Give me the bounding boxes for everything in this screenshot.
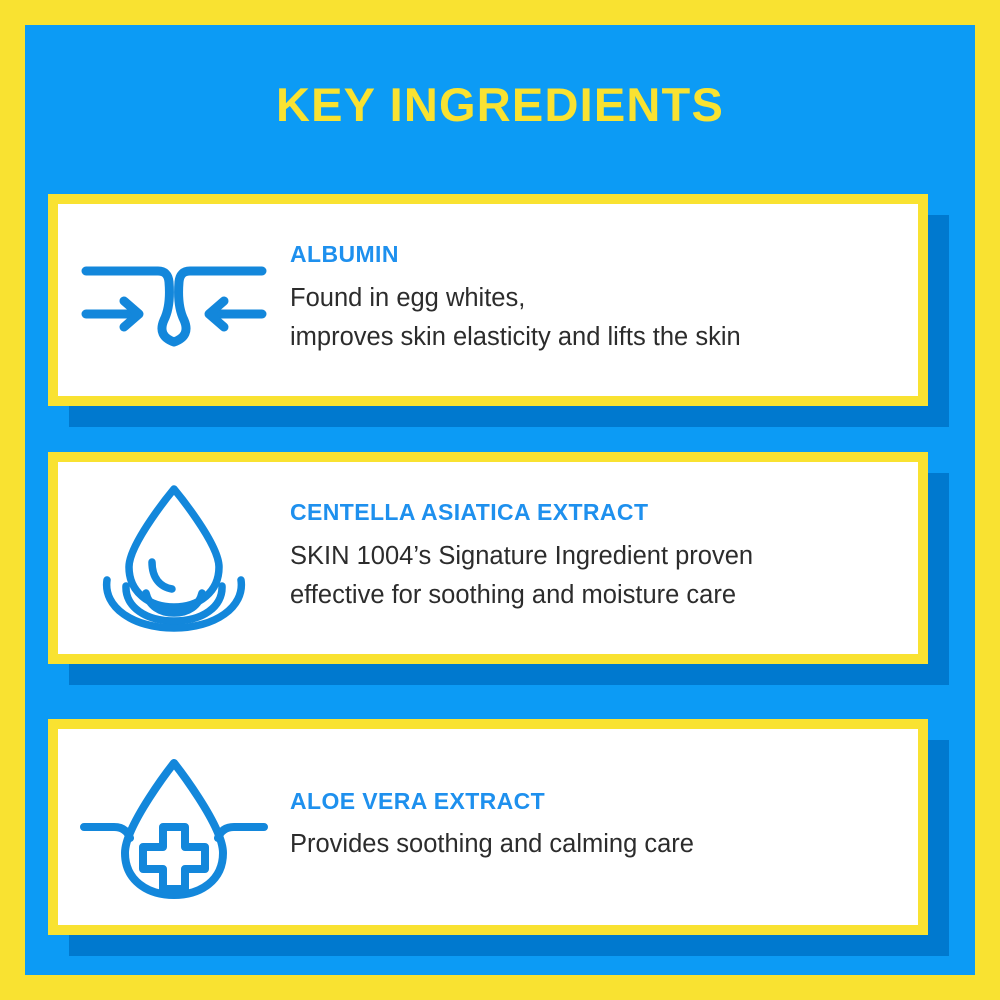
card-heading: ALOE VERA EXTRACT	[290, 789, 900, 814]
card-text-block: CENTELLA ASIATICA EXTRACT SKIN 1004’s Si…	[290, 500, 918, 615]
card-body-line: effective for soothing and moisture care	[290, 576, 900, 616]
card-text-block: ALOE VERA EXTRACT Provides soothing and …	[290, 789, 918, 865]
card-surface: ALOE VERA EXTRACT Provides soothing and …	[48, 719, 928, 935]
card-surface: CENTELLA ASIATICA EXTRACT SKIN 1004’s Si…	[48, 452, 928, 664]
card-heading: CENTELLA ASIATICA EXTRACT	[290, 500, 900, 525]
poster-root: KEY INGREDIENTS	[0, 0, 1000, 1000]
card-body: Provides soothing and calming care	[290, 825, 900, 865]
card-body-line: improves skin elasticity and lifts the s…	[290, 318, 900, 358]
card-heading: ALBUMIN	[290, 242, 900, 267]
ingredient-card-centella-asiatica-extract: CENTELLA ASIATICA EXTRACT SKIN 1004’s Si…	[48, 452, 928, 664]
poster-inner-panel: KEY INGREDIENTS	[25, 25, 975, 975]
card-body-line: Provides soothing and calming care	[290, 825, 900, 865]
card-body-line: SKIN 1004’s Signature Ingredient proven	[290, 537, 900, 577]
ingredient-card-albumin: ALBUMIN Found in egg whites, improves sk…	[48, 194, 928, 406]
droplet-plus-icon	[58, 753, 290, 901]
card-body: Found in egg whites, improves skin elast…	[290, 279, 900, 358]
card-body: SKIN 1004’s Signature Ingredient proven …	[290, 537, 900, 616]
water-droplet-ripple-icon	[58, 483, 290, 633]
pore-tightening-icon	[58, 244, 290, 356]
card-body-line: Found in egg whites,	[290, 279, 900, 319]
page-title: KEY INGREDIENTS	[25, 81, 975, 128]
card-text-block: ALBUMIN Found in egg whites, improves sk…	[290, 242, 918, 357]
card-surface: ALBUMIN Found in egg whites, improves sk…	[48, 194, 928, 406]
ingredient-card-aloe-vera-extract: ALOE VERA EXTRACT Provides soothing and …	[48, 719, 928, 935]
